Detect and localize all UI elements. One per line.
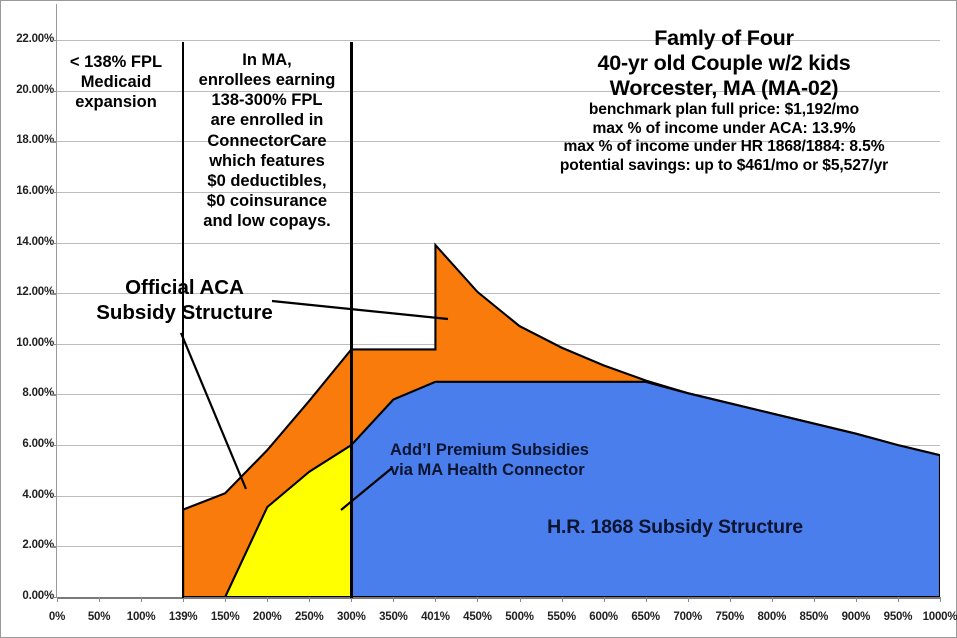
x-tick-label: 50% <box>76 611 122 623</box>
annotation-additional-subsidies: Add’l Premium Subsidies via MA Health Co… <box>390 440 640 480</box>
x-tick-label: 200% <box>244 611 290 623</box>
annotation-official-aca: Official ACA Subsidy Structure <box>72 276 297 325</box>
x-tick-label: 401% <box>412 611 458 623</box>
y-tick-label: 22.00% <box>0 33 54 45</box>
y-tick-label: 14.00% <box>0 236 54 248</box>
x-tick-label: 700% <box>665 611 711 623</box>
x-tick-label: 900% <box>833 611 879 623</box>
title-line-7: potential savings: up to $461/mo or $5,5… <box>498 157 950 176</box>
x-axis-line <box>57 597 940 599</box>
area-series-2 <box>351 382 940 597</box>
x-tick-mark <box>267 597 268 602</box>
title-line-3: Worcester, MA (MA-02) <box>498 76 950 101</box>
x-tick-mark <box>898 597 899 602</box>
y-tick-label: 16.00% <box>0 185 54 197</box>
x-tick-label: 850% <box>791 611 837 623</box>
x-tick-label: 250% <box>286 611 332 623</box>
x-tick-mark <box>309 597 310 602</box>
x-tick-label: 800% <box>749 611 795 623</box>
title-line-4: benchmark plan full price: $1,192/mo <box>498 101 950 120</box>
annotation-addl-l2: via MA Health Connector <box>390 460 640 480</box>
divider-300-fpl <box>350 42 353 598</box>
annotation-medicaid-l3: expansion <box>52 92 180 112</box>
x-tick-mark <box>435 597 436 602</box>
y-tick-label: 0.00% <box>0 590 54 602</box>
x-tick-mark <box>814 597 815 602</box>
x-tick-mark <box>99 597 100 602</box>
x-tick-mark <box>57 597 58 602</box>
y-tick-label: 2.00% <box>0 539 54 551</box>
y-tick-label: 6.00% <box>0 438 54 450</box>
x-tick-label: 600% <box>581 611 627 623</box>
y-tick-label: 8.00% <box>0 387 54 399</box>
annotation-hr1868-label: H.R. 1868 Subsidy Structure <box>450 516 900 540</box>
x-tick-label: 750% <box>707 611 753 623</box>
x-tick-mark <box>646 597 647 602</box>
x-tick-label: 0% <box>34 611 80 623</box>
annotation-medicaid-l1: < 138% FPL <box>52 52 180 72</box>
annotation-addl-l1: Add’l Premium Subsidies <box>390 440 640 460</box>
y-tick-label: 12.00% <box>0 286 54 298</box>
x-tick-label: 150% <box>202 611 248 623</box>
chart-title-block: Famly of Four 40-yr old Couple w/2 kids … <box>498 26 950 176</box>
x-tick-label: 1000% <box>917 611 957 623</box>
x-tick-mark <box>688 597 689 602</box>
x-tick-label: 500% <box>497 611 543 623</box>
title-line-2: 40-yr old Couple w/2 kids <box>498 51 950 76</box>
x-tick-mark <box>940 597 941 602</box>
x-tick-mark <box>730 597 731 602</box>
x-tick-mark <box>393 597 394 602</box>
annotation-medicaid-expansion: < 138% FPL Medicaid expansion <box>52 52 180 112</box>
title-line-5: max % of income under ACA: 13.9% <box>498 120 950 139</box>
x-tick-mark <box>562 597 563 602</box>
x-tick-mark <box>856 597 857 602</box>
x-tick-label: 950% <box>875 611 921 623</box>
x-tick-label: 450% <box>454 611 500 623</box>
annotation-medicaid-l2: Medicaid <box>52 72 180 92</box>
x-tick-label: 100% <box>118 611 164 623</box>
x-tick-label: 650% <box>623 611 669 623</box>
y-tick-label: 10.00% <box>0 337 54 349</box>
title-line-6: max % of income under HR 1868/1884: 8.5% <box>498 138 950 157</box>
x-tick-label: 300% <box>328 611 374 623</box>
x-tick-label: 139% <box>160 611 206 623</box>
y-tick-label: 4.00% <box>0 489 54 501</box>
y-tick-label: 18.00% <box>0 134 54 146</box>
x-tick-label: 350% <box>370 611 416 623</box>
annotation-connectorcare: In MA, enrollees earning 138-300% FPL ar… <box>186 50 348 231</box>
x-tick-mark <box>225 597 226 602</box>
x-tick-mark <box>141 597 142 602</box>
y-tick-label: 20.00% <box>0 84 54 96</box>
x-tick-mark <box>604 597 605 602</box>
x-tick-label: 550% <box>539 611 585 623</box>
x-tick-mark <box>477 597 478 602</box>
x-tick-mark <box>772 597 773 602</box>
annotation-aca-l2: Subsidy Structure <box>72 301 297 326</box>
x-tick-mark <box>520 597 521 602</box>
chart-screenshot: 0.00%2.00%4.00%6.00%8.00%10.00%12.00%14.… <box>0 0 957 638</box>
annotation-aca-l1: Official ACA <box>72 276 297 301</box>
title-line-1: Famly of Four <box>498 26 950 51</box>
